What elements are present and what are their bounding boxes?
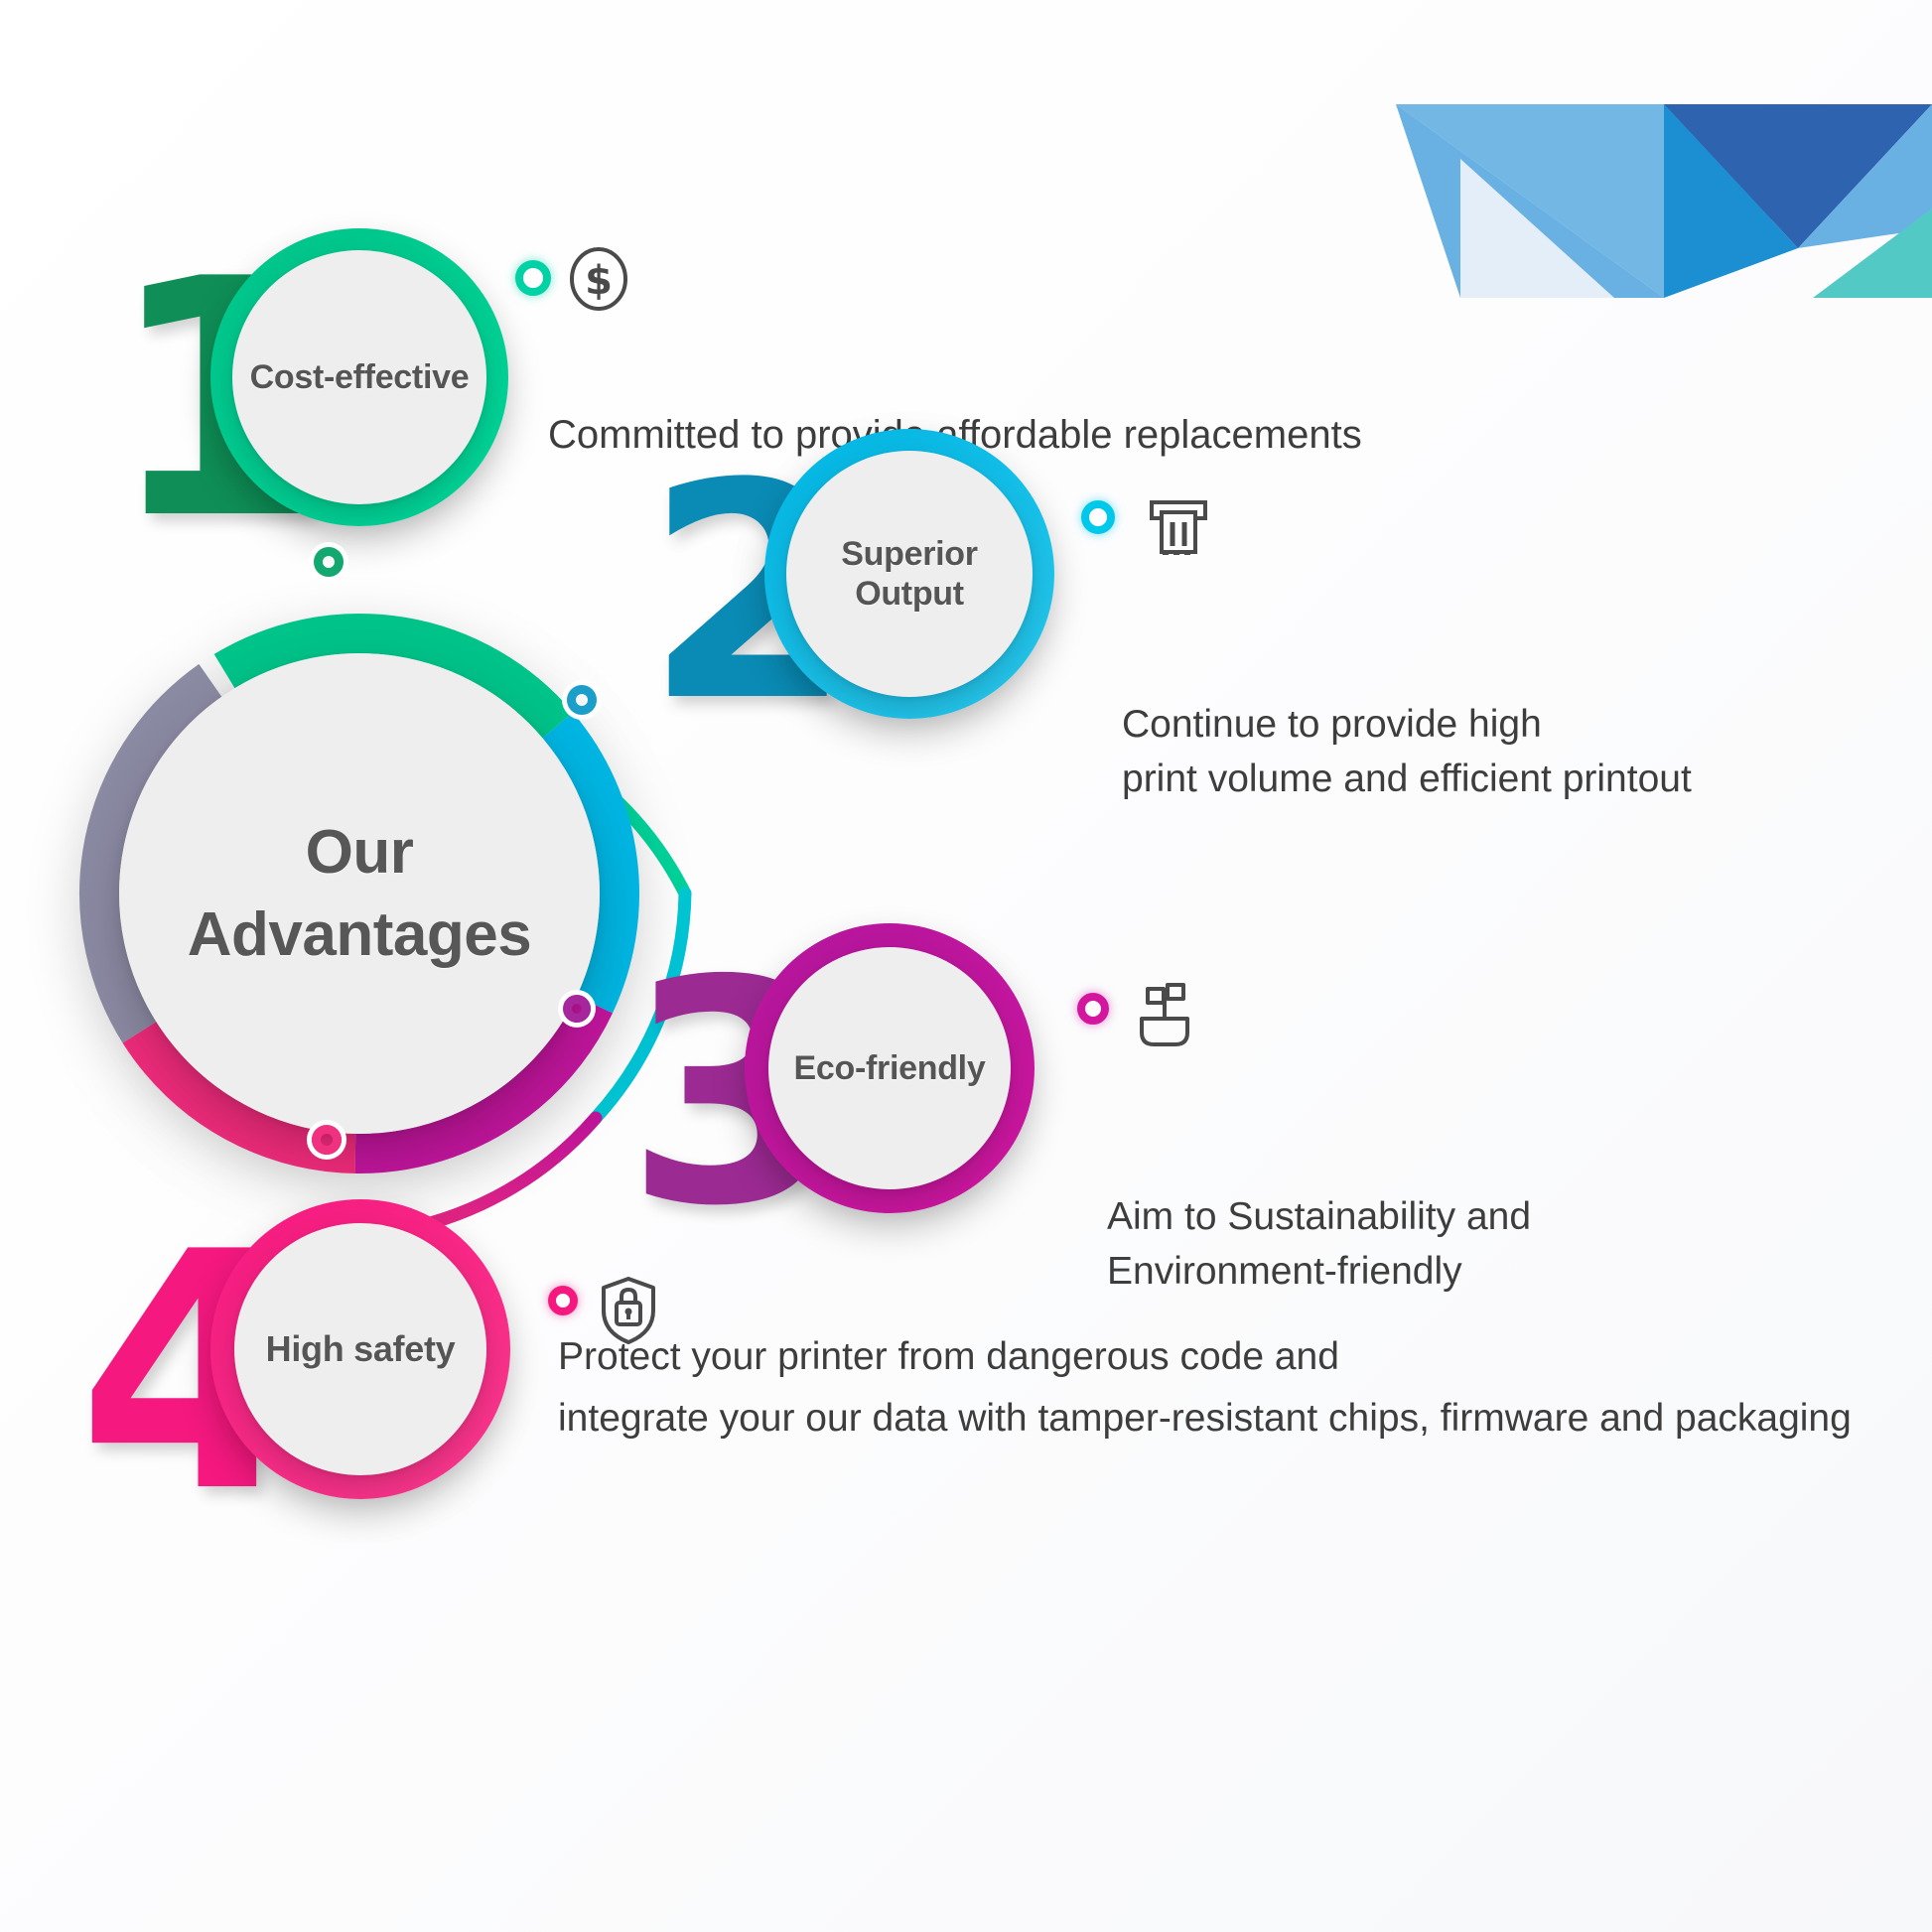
node-eco-friendly[interactable]: Eco-friendly (745, 923, 1035, 1213)
hub-bullet-right (567, 685, 597, 715)
hub-bullet-top (314, 547, 344, 577)
printer-output-icon (1144, 492, 1213, 562)
label-superior-output: Superior Output (786, 534, 1033, 614)
disc-superior-output: Superior Output (786, 451, 1033, 697)
dollar-circle-icon: $ (568, 246, 629, 312)
description-high-safety: Protect your printer from dangerous code… (558, 1326, 1888, 1450)
disc-cost-effective: Cost-effective (232, 250, 486, 504)
node-high-safety[interactable]: High safety (210, 1199, 510, 1499)
hub-title-line1: Our (306, 817, 414, 888)
hub-disc: Our Advantages (119, 653, 600, 1134)
bullet-cost-effective (515, 260, 551, 296)
label-cost-effective: Cost-effective (250, 357, 470, 397)
hub-bullet-lower-right (563, 995, 591, 1023)
bullet-high-safety (548, 1286, 578, 1315)
hub-title-line2: Advantages (188, 899, 531, 970)
description-superior-output: Continue to provide high print volume an… (1122, 697, 1932, 807)
node-superior-output[interactable]: Superior Output (764, 429, 1054, 719)
bullet-eco-friendly (1077, 993, 1109, 1025)
disc-high-safety: High safety (234, 1223, 486, 1475)
hub-our-advantages[interactable]: Our Advantages (71, 606, 647, 1181)
bullet-superior-output (1081, 500, 1115, 534)
disc-eco-friendly: Eco-friendly (768, 947, 1011, 1189)
label-eco-friendly: Eco-friendly (794, 1048, 986, 1088)
decorative-triangles (1197, 0, 1932, 298)
infographic-canvas: 1 Cost-effective $ Committed to provide … (0, 0, 1932, 1932)
potted-plant-icon (1128, 981, 1201, 1054)
label-high-safety: High safety (266, 1328, 456, 1370)
hub-bullet-bottom (312, 1125, 342, 1155)
svg-text:$: $ (585, 258, 613, 304)
node-cost-effective[interactable]: Cost-effective (210, 228, 508, 526)
description-eco-friendly: Aim to Sustainability and Environment-fr… (1107, 1189, 1862, 1300)
